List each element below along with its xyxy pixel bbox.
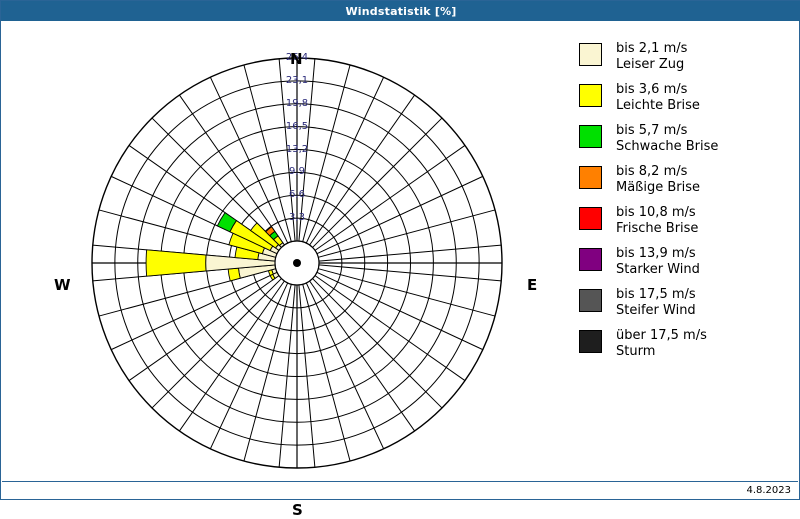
legend-item-text: bis 3,6 m/sLeichte Brise <box>616 82 700 114</box>
legend-item: bis 17,5 m/sSteifer Wind <box>579 287 794 319</box>
window-title-bar: Windstatistik [%] <box>1 1 800 21</box>
legend-speed-range: über 17,5 m/s <box>616 328 707 343</box>
legend-item: bis 8,2 m/sMäßige Brise <box>579 164 794 196</box>
legend-item-text: bis 17,5 m/sSteifer Wind <box>616 287 696 319</box>
plot-center-hub <box>275 241 319 285</box>
legend-color-swatch <box>579 84 602 107</box>
legend-class-name: Leichte Brise <box>616 98 700 114</box>
legend-item-text: bis 2,1 m/sLeiser Zug <box>616 41 687 73</box>
legend-speed-range: bis 2,1 m/s <box>616 41 687 56</box>
legend-item: bis 5,7 m/sSchwache Brise <box>579 123 794 155</box>
legend-color-swatch <box>579 289 602 312</box>
legend-item-text: bis 5,7 m/sSchwache Brise <box>616 123 718 155</box>
legend-class-name: Mäßige Brise <box>616 180 700 196</box>
legend-item: über 17,5 m/sSturm <box>579 328 794 360</box>
legend-class-name: Frische Brise <box>616 221 698 237</box>
compass-label-north: N <box>290 50 303 68</box>
legend-speed-range: bis 5,7 m/s <box>616 123 687 138</box>
legend-item-text: bis 10,8 m/sFrische Brise <box>616 205 698 237</box>
grid-spoke <box>318 269 495 316</box>
grid-spoke <box>317 272 483 349</box>
legend-item: bis 3,6 m/sLeichte Brise <box>579 82 794 114</box>
legend-color-swatch <box>579 248 602 271</box>
footer-divider <box>2 481 798 482</box>
radial-tick-label: 16,5 <box>277 121 317 132</box>
grid-spoke <box>244 284 291 461</box>
window-title: Windstatistik [%] <box>345 5 456 18</box>
legend-class-name: Steifer Wind <box>616 303 696 319</box>
legend-color-swatch <box>579 330 602 353</box>
radial-tick-label: 19,8 <box>277 98 317 109</box>
radial-tick-label: 23,1 <box>277 75 317 86</box>
legend-class-name: Sturm <box>616 344 707 360</box>
legend-item-text: bis 8,2 m/sMäßige Brise <box>616 164 700 196</box>
legend-color-swatch <box>579 166 602 189</box>
legend-class-name: Schwache Brise <box>616 139 718 155</box>
legend-item-text: über 17,5 m/sSturm <box>616 328 707 360</box>
legend-item: bis 10,8 m/sFrische Brise <box>579 205 794 237</box>
wind-rose-chart <box>2 22 562 480</box>
grid-spoke <box>313 279 442 408</box>
legend-item-text: bis 13,9 m/sStarker Wind <box>616 246 700 278</box>
wind-rose-segment <box>228 268 240 281</box>
grid-spoke <box>303 284 350 461</box>
compass-label-west: W <box>54 276 71 294</box>
legend-speed-range: bis 3,6 m/s <box>616 82 687 97</box>
legend-speed-range: bis 17,5 m/s <box>616 287 696 302</box>
grid-spoke <box>210 283 287 449</box>
legend-speed-range: bis 10,8 m/s <box>616 205 696 220</box>
radial-tick-label: 6,6 <box>277 189 317 200</box>
legend-color-swatch <box>579 125 602 148</box>
legend-speed-range: bis 13,9 m/s <box>616 246 696 261</box>
legend-speed-range: bis 8,2 m/s <box>616 164 687 179</box>
grid-spoke <box>152 279 281 408</box>
grid-spoke <box>313 118 442 247</box>
chart-date: 4.8.2023 <box>746 485 791 496</box>
legend-class-name: Leiser Zug <box>616 57 687 73</box>
compass-label-south: S <box>292 501 303 519</box>
radial-tick-label: 3,3 <box>277 212 317 223</box>
grid-spoke <box>111 272 277 349</box>
legend-color-swatch <box>579 207 602 230</box>
grid-spoke <box>317 176 483 253</box>
grid-spoke <box>306 77 383 243</box>
speed-class-legend: bis 2,1 m/sLeiser Zugbis 3,6 m/sLeichte … <box>579 41 794 369</box>
legend-item: bis 2,1 m/sLeiser Zug <box>579 41 794 73</box>
radial-tick-label: 9,9 <box>277 166 317 177</box>
legend-item: bis 13,9 m/sStarker Wind <box>579 246 794 278</box>
compass-label-east: E <box>527 276 537 294</box>
legend-class-name: Starker Wind <box>616 262 700 278</box>
grid-spoke <box>318 210 495 257</box>
legend-color-swatch <box>579 43 602 66</box>
center-point <box>293 259 301 267</box>
grid-spoke <box>306 283 383 449</box>
wind-statistics-window: Windstatistik [%] 3,36,69,913,216,519,82… <box>0 0 800 500</box>
radial-tick-label: 13,2 <box>277 144 317 155</box>
